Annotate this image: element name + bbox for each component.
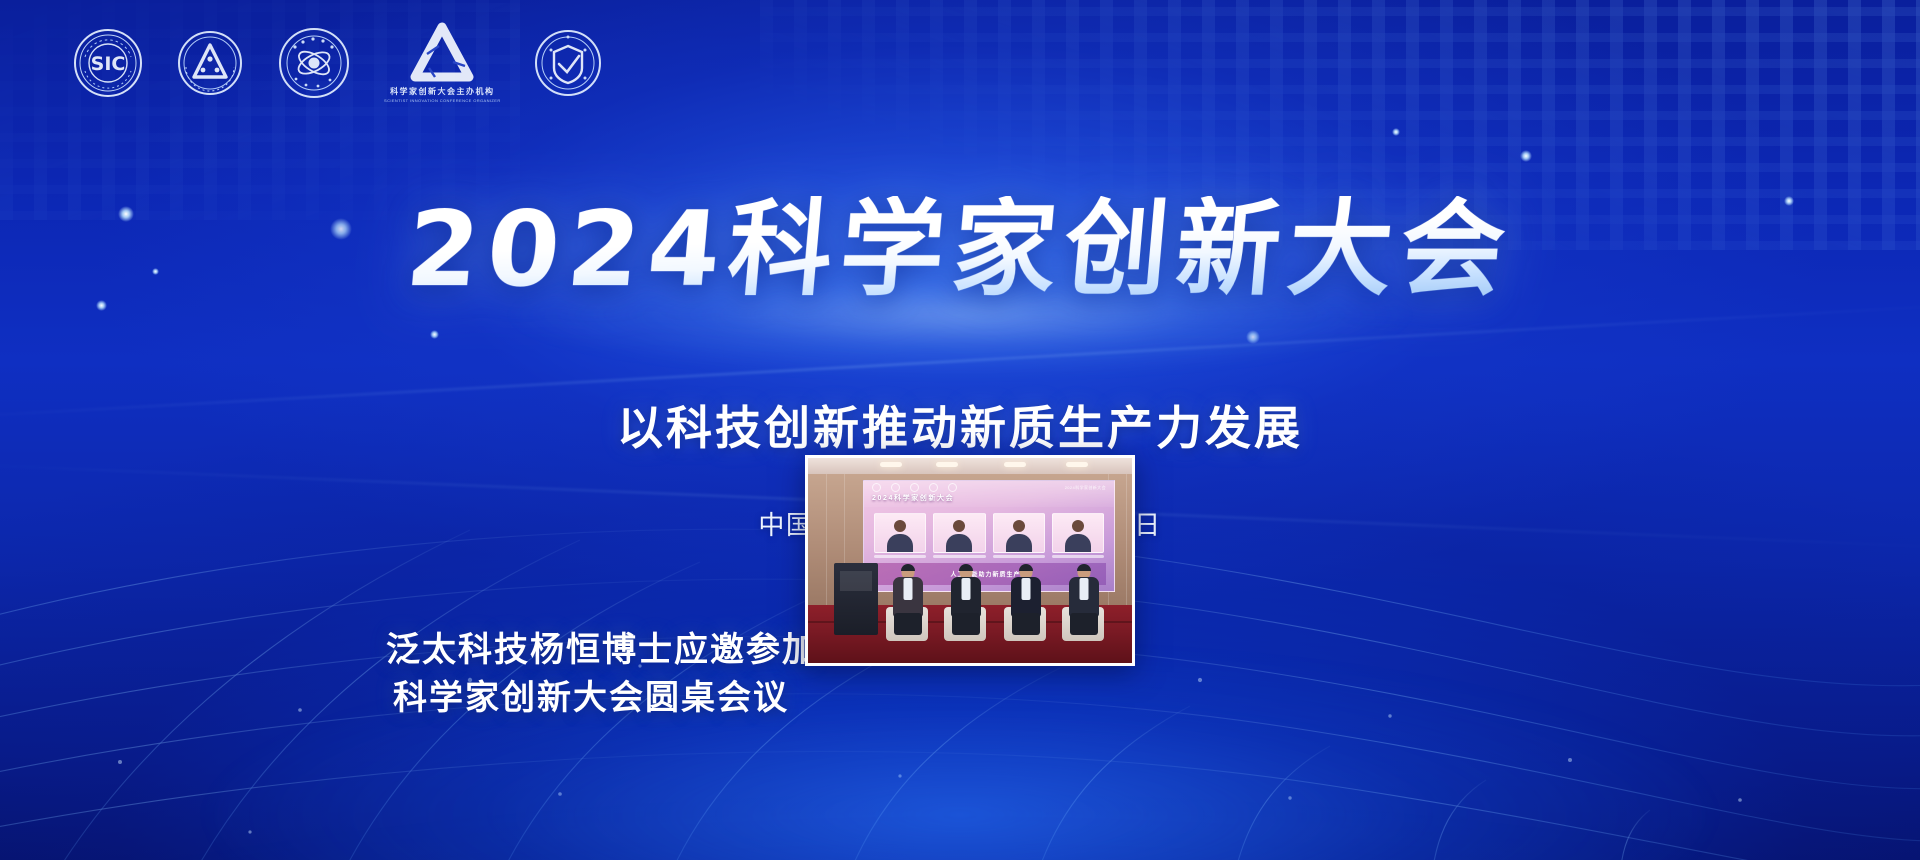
photo-panelist [1064, 565, 1104, 637]
photo-portrait-nameplate [1052, 555, 1104, 558]
photo-screen-icon-3 [910, 483, 919, 492]
photo-portrait-body [1006, 534, 1032, 552]
photo-panelist-hair [959, 564, 973, 571]
photo-screen-title: 2024科学家创新大会 [872, 493, 954, 503]
photo-panelist-shirt [904, 578, 913, 600]
photo-portrait-body [887, 534, 913, 552]
organizer-logo-row: SIC [72, 22, 603, 103]
photo-panelist-hair [1019, 564, 1033, 571]
photo-ceiling-light-2 [936, 462, 958, 467]
photo-portrait-nameplate [993, 555, 1045, 558]
sparkle-9 [430, 330, 439, 339]
photo-portrait-body [946, 534, 972, 552]
photo-podium [834, 563, 878, 635]
photo-screen-portrait [933, 513, 985, 558]
delta-logo-wordmark: 科学家创新大会主办机构 [390, 86, 495, 97]
photo-panelist [888, 565, 928, 637]
photo-screen-sublabel: 2024科学家创新大会 [1065, 485, 1106, 491]
photo-portrait-head [894, 520, 906, 532]
sparkle-8 [1246, 330, 1260, 344]
photo-portrait-head [1072, 520, 1084, 532]
photo-portrait-nameplate [874, 555, 926, 558]
delta-triangle-icon [409, 22, 475, 84]
photo-portrait-card [874, 513, 926, 553]
photo-panelist-legs [894, 613, 922, 635]
photo-panelist-shirt [962, 578, 971, 600]
event-caption-line-2: 科学家创新大会圆桌会议 [386, 674, 796, 722]
delta-wordmark-logo: 科学家创新大会主办机构 SCIENTIST INNOVATION CONFERE… [384, 22, 501, 103]
conference-banner: SIC [0, 0, 1920, 860]
triangle-seal-logo [176, 29, 244, 97]
sparkle-5 [1520, 150, 1532, 162]
photo-screen-icon-5 [948, 483, 957, 492]
photo-panelist-legs [952, 613, 980, 635]
photo-panelist [946, 565, 986, 637]
subtitle-block: 以科技创新推动新质生产力发展 [0, 392, 1920, 458]
photo-screen-portrait [874, 513, 926, 558]
event-caption-line-1: 泛太科技杨恒博士应邀参加 [386, 626, 796, 674]
photo-screen-icon-1 [872, 483, 881, 492]
photo-panelist-legs [1012, 613, 1040, 635]
photo-portrait-card [993, 513, 1045, 553]
page-subtitle: 以科技创新推动新质生产力发展 [617, 392, 1303, 458]
photo-panelist [1006, 565, 1046, 637]
photo-wall-seam-4 [1126, 474, 1127, 605]
photo-panelist-hair [1077, 564, 1091, 571]
photo-panelist-shirt [1022, 578, 1031, 600]
photo-screen-portrait-row [874, 513, 1104, 558]
photo-ceiling-light-3 [1004, 462, 1026, 467]
photo-screen-portrait [993, 513, 1045, 558]
photo-ceiling-light-1 [880, 462, 902, 467]
photo-wall-seam-1 [826, 474, 827, 605]
photo-panelist-shirt [1080, 578, 1089, 600]
title-block: 2024科学家创新大会 [0, 196, 1920, 302]
photo-panelist-legs [1070, 613, 1098, 635]
roundtable-conference-photo: 2024科学家创新大会 2024科学家创新大会 [805, 455, 1135, 666]
page-title: 2024科学家创新大会 [393, 196, 1528, 302]
photo-panelist-hair [901, 564, 915, 571]
shield-seal-logo [533, 28, 603, 98]
photo-portrait-head [1013, 520, 1025, 532]
photo-screen-logo-icons [872, 483, 957, 492]
event-caption: 泛太科技杨恒博士应邀参加 科学家创新大会圆桌会议 [386, 626, 796, 723]
sparkle-6 [1392, 128, 1400, 136]
sic-seal-logo: SIC [72, 27, 144, 99]
photo-content: 2024科学家创新大会 2024科学家创新大会 [808, 458, 1132, 663]
photo-screen-icon-4 [929, 483, 938, 492]
delta-logo-wordmark-sub: SCIENTIST INNOVATION CONFERENCE ORGANIZE… [384, 98, 501, 103]
photo-portrait-card [1052, 513, 1104, 553]
photo-portrait-body [1065, 534, 1091, 552]
atom-seal-logo [276, 25, 352, 101]
photo-ceiling-light-4 [1066, 462, 1088, 467]
photo-screen-portrait [1052, 513, 1104, 558]
photo-screen-icon-2 [891, 483, 900, 492]
photo-portrait-card [933, 513, 985, 553]
photo-portrait-head [953, 520, 965, 532]
svg-text:SIC: SIC [91, 53, 126, 75]
photo-portrait-nameplate [933, 555, 985, 558]
